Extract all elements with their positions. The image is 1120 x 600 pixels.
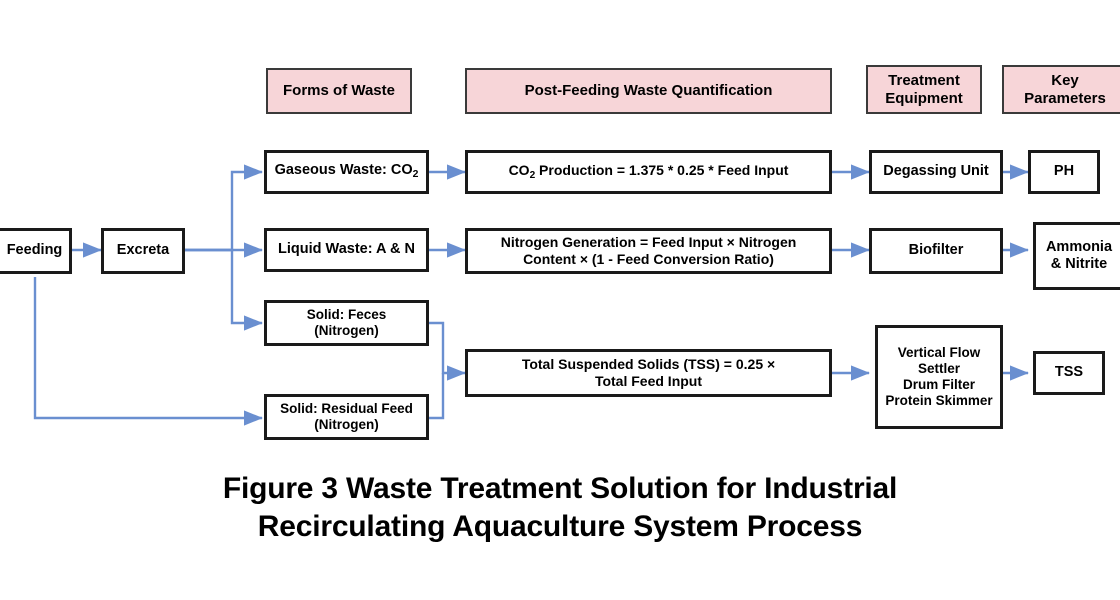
node-gaseous-waste: Gaseous Waste: CO2 — [264, 150, 429, 194]
node-solid-feces-line1: Solid: Feces — [307, 307, 387, 323]
parameter-ammonia-nitrite: Ammonia & Nitrite — [1033, 222, 1120, 290]
header-key-parameters: Key Parameters — [1002, 65, 1120, 114]
equipment-degassing-unit-label: Degassing Unit — [883, 163, 989, 180]
node-gaseous-waste-label: Gaseous Waste: CO — [275, 162, 413, 178]
formula-total-suspended-solids-line1: Total Suspended Solids (TSS) = 0.25 × — [522, 356, 775, 373]
formula-nitrogen-generation-line2: Content × (1 - Feed Conversion Ratio) — [523, 251, 774, 268]
node-solid-residual-feed-line2: (Nitrogen) — [314, 417, 379, 433]
node-liquid-waste: Liquid Waste: A & N — [264, 228, 429, 272]
figure-caption: Figure 3 Waste Treatment Solution for In… — [0, 470, 1120, 547]
equipment-solids-removal: Vertical Flow Settler Drum Filter Protei… — [875, 325, 1003, 429]
parameter-tss: TSS — [1033, 351, 1105, 395]
formula-co2-production-suffix: Production = 1.375 * 0.25 * Feed Input — [535, 162, 788, 178]
formula-co2-production-prefix: CO — [509, 162, 530, 178]
equipment-biofilter-label: Biofilter — [909, 242, 964, 259]
node-feeding-label: Feeding — [7, 242, 63, 259]
formula-nitrogen-generation: Nitrogen Generation = Feed Input × Nitro… — [465, 228, 832, 274]
node-solid-feces: Solid: Feces (Nitrogen) — [264, 300, 429, 346]
node-gaseous-waste-subscript: 2 — [413, 169, 419, 180]
formula-total-suspended-solids-line2: Total Feed Input — [595, 373, 702, 390]
header-forms-of-waste-label: Forms of Waste — [283, 82, 395, 100]
node-excreta-label: Excreta — [117, 242, 169, 259]
header-key-parameters-line2: Parameters — [1024, 90, 1106, 108]
formula-total-suspended-solids: Total Suspended Solids (TSS) = 0.25 × To… — [465, 349, 832, 397]
header-treatment-equipment-line1: Treatment — [888, 72, 960, 90]
header-key-parameters-line1: Key — [1051, 72, 1079, 90]
header-treatment-equipment-line2: Equipment — [885, 90, 963, 108]
node-feeding: Feeding — [0, 228, 72, 274]
figure-canvas: Forms of Waste Post-Feeding Waste Quanti… — [0, 0, 1120, 600]
parameter-tss-label: TSS — [1055, 364, 1083, 381]
parameter-ph: PH — [1028, 150, 1100, 194]
equipment-solids-removal-line2: Settler — [918, 361, 960, 377]
equipment-solids-removal-line3: Drum Filter — [903, 377, 975, 393]
node-liquid-waste-label: Liquid Waste: A & N — [278, 241, 415, 258]
equipment-degassing-unit: Degassing Unit — [869, 150, 1003, 194]
node-solid-feces-line2: (Nitrogen) — [314, 323, 379, 339]
header-forms-of-waste: Forms of Waste — [266, 68, 412, 114]
parameter-ammonia-nitrite-line1: Ammonia — [1046, 239, 1112, 256]
node-solid-residual-feed-line1: Solid: Residual Feed — [280, 401, 413, 417]
node-solid-residual-feed: Solid: Residual Feed (Nitrogen) — [264, 394, 429, 440]
equipment-solids-removal-line4: Protein Skimmer — [885, 393, 992, 409]
header-post-feeding-waste-quantification: Post-Feeding Waste Quantification — [465, 68, 832, 114]
figure-caption-line1: Figure 3 Waste Treatment Solution for In… — [0, 470, 1120, 508]
header-post-feeding-waste-quantification-label: Post-Feeding Waste Quantification — [525, 82, 773, 100]
header-treatment-equipment: Treatment Equipment — [866, 65, 982, 114]
node-excreta: Excreta — [101, 228, 185, 274]
formula-co2-production: CO2 Production = 1.375 * 0.25 * Feed Inp… — [465, 150, 832, 194]
equipment-biofilter: Biofilter — [869, 228, 1003, 274]
figure-caption-line2: Recirculating Aquaculture System Process — [0, 508, 1120, 546]
parameter-ammonia-nitrite-line2: & Nitrite — [1051, 256, 1107, 273]
formula-nitrogen-generation-line1: Nitrogen Generation = Feed Input × Nitro… — [501, 234, 797, 251]
equipment-solids-removal-line1: Vertical Flow — [898, 345, 981, 361]
parameter-ph-label: PH — [1054, 163, 1074, 180]
